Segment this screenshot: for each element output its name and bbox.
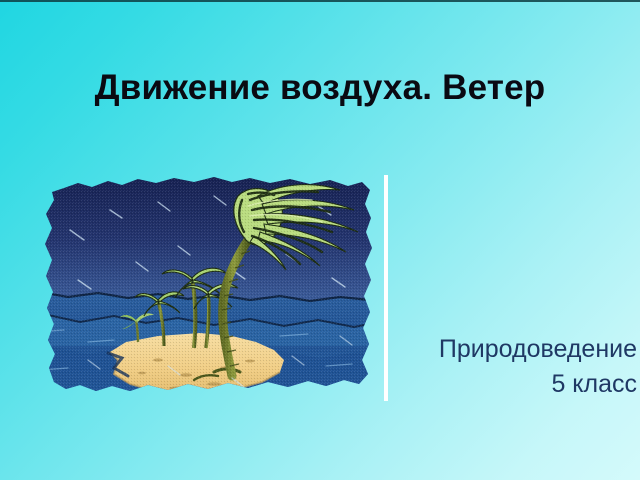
subject-caption: Природоведение	[387, 332, 637, 367]
slide-captions: Природоведение 5 класс	[387, 332, 637, 402]
top-edge-rule	[0, 0, 640, 2]
grade-caption: 5 класс	[387, 367, 637, 402]
windy-island-palm-tree-illustration	[18, 170, 380, 402]
page-title: Движение воздуха. Ветер	[0, 66, 640, 110]
presentation-slide: Движение воздуха. Ветер	[0, 0, 640, 480]
